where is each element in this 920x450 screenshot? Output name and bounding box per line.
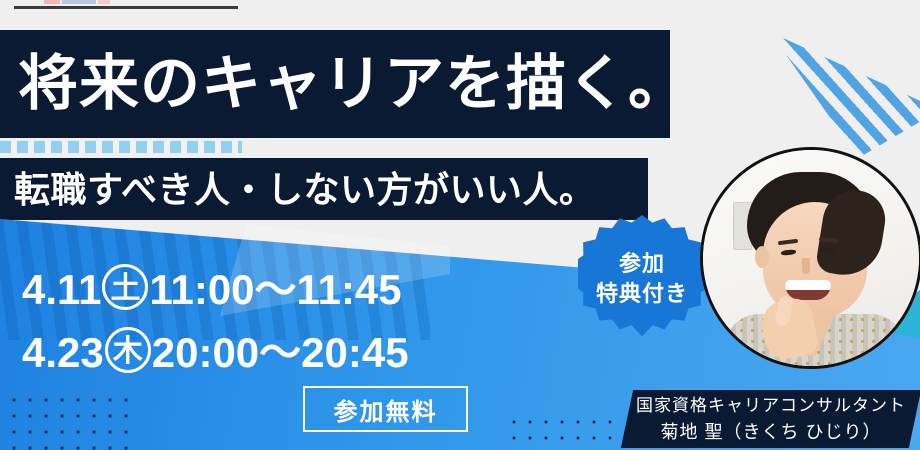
striped-triangle-gap-icon [770, 8, 920, 158]
dashed-strip-icon [0, 141, 242, 153]
dot-grid-mid-icon [506, 414, 616, 450]
schedule-date-1: 4.11 [22, 266, 101, 313]
top-chip-pink-icon [98, 0, 110, 4]
top-chip-blue-icon [62, 0, 96, 4]
speaker-avatar [700, 147, 920, 369]
speaker-name: 菊地 聖（きくち ひじり） [660, 419, 881, 445]
schedule-weekday-1: 土 [102, 264, 148, 310]
speaker-role: 国家資格キャリアコンサルタント [636, 393, 906, 419]
photo-mouth [785, 280, 831, 300]
free-participation-button[interactable]: 参加無料 [303, 386, 468, 432]
photo-teeth [785, 280, 831, 290]
schedule-date-2: 4.23 [22, 329, 104, 376]
top-rule-icon [14, 6, 238, 9]
bonus-badge-line-2: 特典付き [596, 279, 688, 309]
schedule-time-1: 11:00〜11:45 [149, 266, 401, 313]
photo-nose [802, 258, 810, 274]
seminar-banner: 将来のキャリアを描く。 転職すべき人・しない方がいい人。 4.11土11:00〜… [0, 0, 920, 450]
schedule-row-2: 4.23木20:00〜20:45 [22, 327, 409, 377]
headline-line-2: 転職すべき人・しない方がいい人。 [14, 168, 595, 212]
speaker-name-text: 国家資格キャリアコンサルタント 菊地 聖（きくち ひじり） [627, 390, 915, 448]
free-participation-label: 参加無料 [334, 392, 438, 427]
bonus-badge-line-1: 参加 [619, 249, 665, 279]
schedule-time-2: 20:00〜20:45 [152, 329, 409, 376]
photo-ear [755, 246, 769, 268]
headline-line-1: 将来のキャリアを描く。 [18, 48, 689, 120]
schedule-weekday-2: 木 [105, 327, 151, 373]
top-chip-red-icon [44, 0, 60, 4]
schedule-row-1: 4.11土11:00〜11:45 [22, 264, 402, 314]
dot-grid-left-icon [6, 392, 134, 450]
